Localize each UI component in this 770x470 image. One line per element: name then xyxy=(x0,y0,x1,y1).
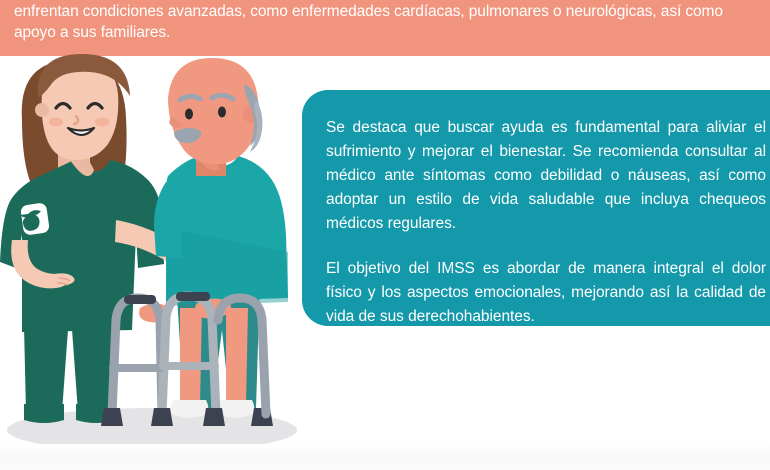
callout-paragraph-1: Se destaca que buscar ayuda es fundament… xyxy=(326,116,766,236)
banner-paragraph: pacientes con enfermedades graves. Se br… xyxy=(14,0,756,44)
nurse-ear xyxy=(35,103,49,117)
nurse-blush-left xyxy=(49,118,63,127)
illustration-figure xyxy=(0,52,300,450)
infographic-slide: pacientes con enfermedades graves. Se br… xyxy=(0,0,770,470)
man-eye-right xyxy=(218,107,226,118)
teal-callout-card: Se destaca que buscar ayuda es fundament… xyxy=(302,90,770,326)
man-leg-left xyxy=(180,308,202,404)
nurse-shoe-left xyxy=(24,404,64,423)
bottom-strip xyxy=(0,444,770,470)
top-banner: pacientes con enfermedades graves. Se br… xyxy=(0,0,770,56)
man-shoe-left xyxy=(170,400,208,418)
nurse-blush-right xyxy=(95,118,109,127)
callout-paragraph-2: El objetivo del IMSS es abordar de maner… xyxy=(326,257,766,329)
man-leg-right xyxy=(226,308,248,404)
walker-foot-3 xyxy=(203,408,225,426)
walker-foot-2 xyxy=(151,408,173,426)
walker-foot-1 xyxy=(101,408,123,426)
walker-leg-rear-right-down xyxy=(262,320,266,414)
banner-body-text: . Se brindan cuidados paliativos persona… xyxy=(14,0,723,41)
walker-grip-front xyxy=(176,292,210,301)
man-eye-left xyxy=(185,109,193,120)
walker-grip-rear xyxy=(124,295,156,304)
